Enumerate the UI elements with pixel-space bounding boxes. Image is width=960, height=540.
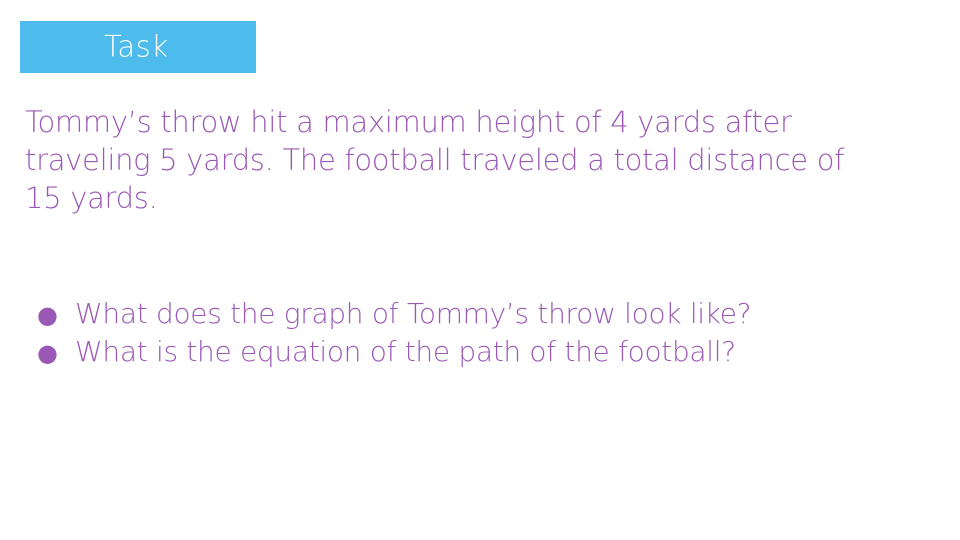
task-description-line-2: traveling 5 yards. The football traveled…	[25, 141, 870, 179]
question-list: ● What does the graph of Tommy’s throw l…	[25, 295, 885, 371]
task-description: Tommy’s throw hit a maximum height of 4 …	[25, 103, 870, 217]
title-banner: Task	[20, 21, 256, 73]
question-item-1-label: What does the graph of Tommy’s throw loo…	[75, 295, 751, 333]
slide-canvas: Task Tommy’s throw hit a maximum height …	[0, 0, 960, 540]
question-item-2-label: What is the equation of the path of the …	[75, 333, 736, 371]
list-item: ● What does the graph of Tommy’s throw l…	[25, 295, 885, 333]
bullet-point-icon: ●	[25, 334, 75, 372]
task-description-line-1: Tommy’s throw hit a maximum height of 4 …	[25, 103, 870, 141]
task-description-line-3: 15 yards.	[25, 179, 870, 217]
bullet-point-icon: ●	[25, 296, 75, 334]
list-item: ● What is the equation of the path of th…	[25, 333, 885, 371]
page-title: Task	[104, 33, 169, 62]
